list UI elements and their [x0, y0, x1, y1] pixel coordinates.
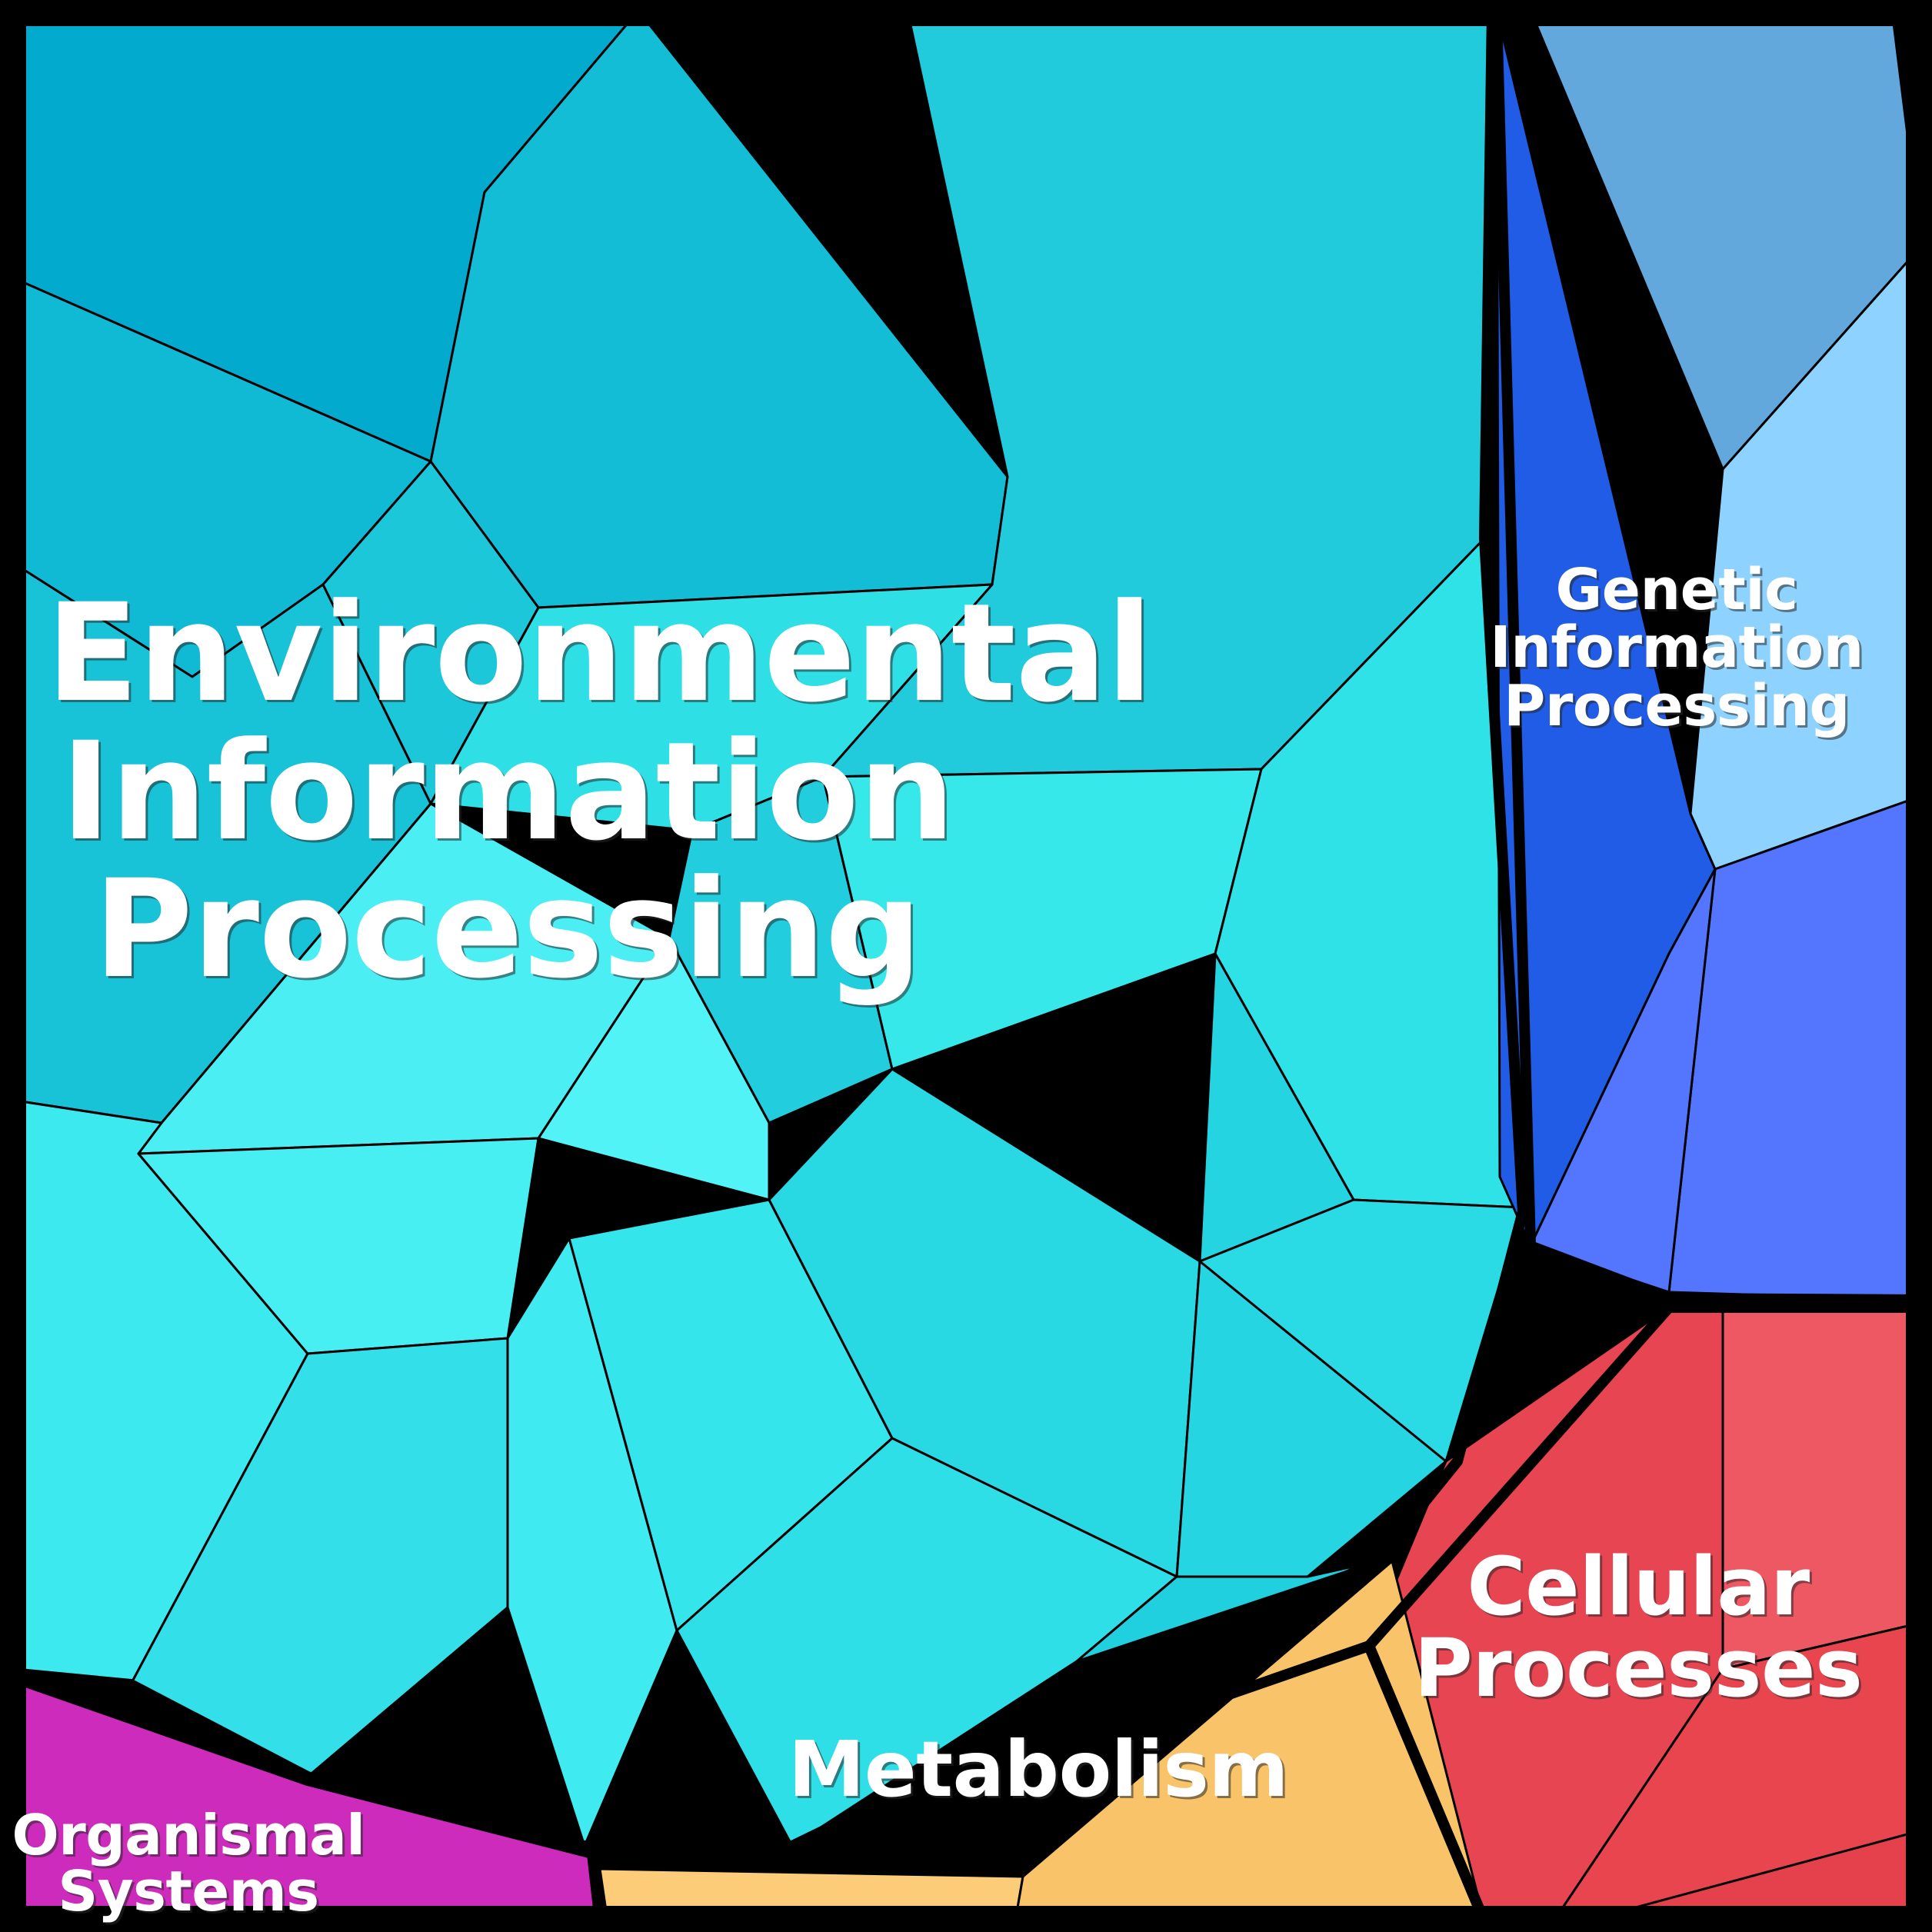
cp-cell-02[interactable] — [1723, 1300, 1921, 1669]
treemap-canvas — [0, 0, 1932, 1932]
voronoi-treemap-figure: Environmental Information Processing Gen… — [0, 0, 1932, 1932]
